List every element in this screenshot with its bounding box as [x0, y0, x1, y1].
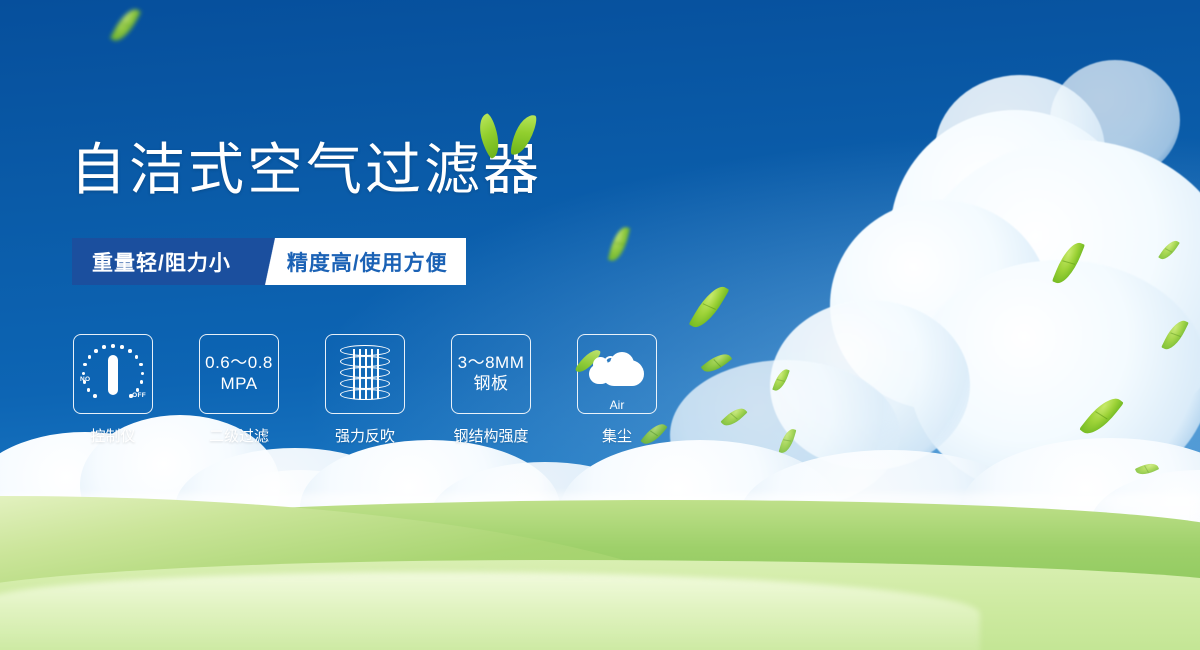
steel-plate-text-icon: 3〜8MM 钢板: [458, 353, 525, 394]
subtitle-right-text: 精度高/使用方便: [283, 238, 466, 285]
subtitle-bar: 重量轻/阻力小 精度高/使用方便: [72, 238, 466, 285]
feature-icon-box: Air: [577, 334, 657, 414]
feature-label: 集尘: [602, 425, 632, 446]
pressure-line-2: MPA: [205, 374, 273, 395]
feature-item-controller[interactable]: NO OFF 控制仪: [72, 334, 154, 446]
gauge-label-no: NO: [80, 376, 90, 383]
feature-item-secondary-filter[interactable]: 0.6〜0.8 MPA 二级过滤: [198, 334, 280, 446]
feature-icon-box: NO OFF: [73, 334, 153, 414]
cloud-air-label: Air: [588, 398, 646, 412]
feature-icon-box: 0.6〜0.8 MPA: [199, 334, 279, 414]
cloud-notch: [604, 356, 617, 369]
gauge-icon: NO OFF: [81, 342, 145, 406]
feature-item-dust-collection[interactable]: Air 集尘: [576, 334, 658, 446]
steel-line-2: 钢板: [458, 374, 525, 395]
subtitle-left-text: 重量轻/阻力小: [72, 238, 257, 285]
feature-label: 强力反吹: [335, 425, 395, 446]
page-title: 自洁式空气过滤器: [70, 142, 542, 198]
feature-item-backblow[interactable]: 强力反吹: [324, 334, 406, 446]
filter-stack-icon: [340, 345, 390, 403]
feature-icon-box: [325, 334, 405, 414]
feature-icon-box: 3〜8MM 钢板: [451, 334, 531, 414]
cloud-air-icon: Air: [588, 350, 646, 398]
pressure-line-1: 0.6〜0.8: [205, 353, 273, 374]
steel-line-1: 3〜8MM: [458, 353, 525, 374]
feature-item-steel-strength[interactable]: 3〜8MM 钢板 钢结构强度: [450, 334, 532, 446]
gauge-label-off: OFF: [132, 392, 146, 399]
feature-label: 钢结构强度: [453, 425, 528, 446]
feature-label: 二级过滤: [209, 425, 269, 446]
feature-list: NO OFF 控制仪 0.6〜0.8 MPA 二级过滤: [72, 334, 658, 446]
subtitle-divider-slash: [257, 238, 283, 285]
product-banner: 自洁式空气过滤器 重量轻/阻力小 精度高/使用方便: [0, 0, 1200, 650]
pressure-text-icon: 0.6〜0.8 MPA: [205, 353, 273, 394]
feature-label: 控制仪: [90, 425, 135, 446]
gauge-needle: [108, 355, 118, 395]
